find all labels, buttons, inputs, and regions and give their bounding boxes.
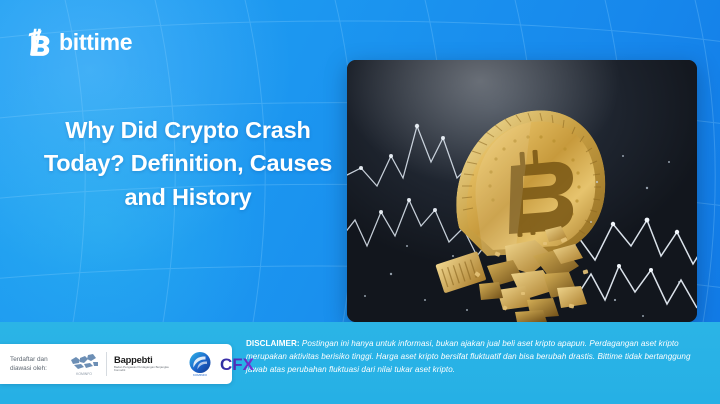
brand-logo[interactable]: bittime bbox=[26, 28, 132, 56]
badge-divider-1 bbox=[106, 352, 107, 376]
regulator-label: Terdaftar dan diawasi oleh: bbox=[10, 355, 62, 374]
hero-image-card bbox=[347, 60, 697, 322]
brand-name: bittime bbox=[59, 31, 132, 54]
promo-banner: bittime Why Did Crypto Crash Today? Defi… bbox=[0, 0, 720, 404]
kominfo-wordmark: KOMINFO bbox=[76, 372, 92, 376]
page-title: Why Did Crypto Crash Today? Definition, … bbox=[30, 114, 346, 214]
cfx-mark-icon: KOMINFO bbox=[187, 351, 213, 377]
cfx-text: CFX bbox=[220, 355, 255, 374]
kominfo-logo-icon: KOMINFO bbox=[69, 351, 99, 377]
bappebti-name: Bappebti bbox=[114, 355, 180, 364]
shattering-bitcoin-illustration bbox=[347, 60, 697, 322]
kominfo-sub-wordmark: KOMINFO bbox=[193, 373, 208, 377]
bappebti-logo: Bappebti Badan Pengawas Perdagangan Berj… bbox=[114, 355, 180, 373]
disclaimer-text: DISCLAIMER: Postingan ini hanya untuk in… bbox=[246, 337, 712, 376]
cfx-wordmark: CFX bbox=[220, 354, 266, 374]
bappebti-sublabel: Badan Pengawas Perdagangan Berjangka Kom… bbox=[114, 366, 180, 374]
bittime-b-mark-icon bbox=[26, 28, 52, 56]
disclaimer-body: Postingan ini hanya untuk informasi, buk… bbox=[246, 339, 691, 374]
disclaimer-label: DISCLAIMER: bbox=[246, 339, 300, 348]
regulator-badge: Terdaftar dan diawasi oleh: KOMINFO Bapp… bbox=[0, 344, 232, 384]
